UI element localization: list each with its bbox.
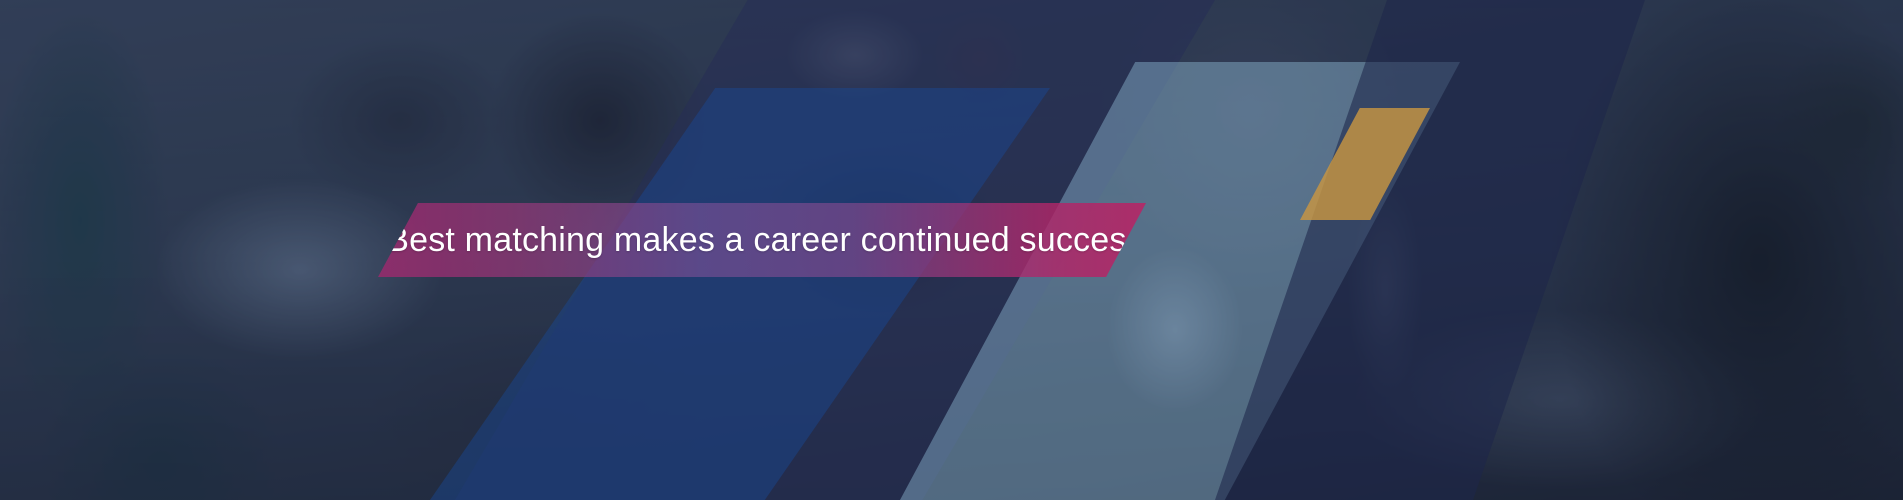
- hero-banner: Best matching makes a career continued s…: [0, 0, 1903, 500]
- banner-headline: Best matching makes a career continued s…: [380, 221, 1144, 260]
- caption-band: Best matching makes a career continued s…: [378, 203, 1146, 277]
